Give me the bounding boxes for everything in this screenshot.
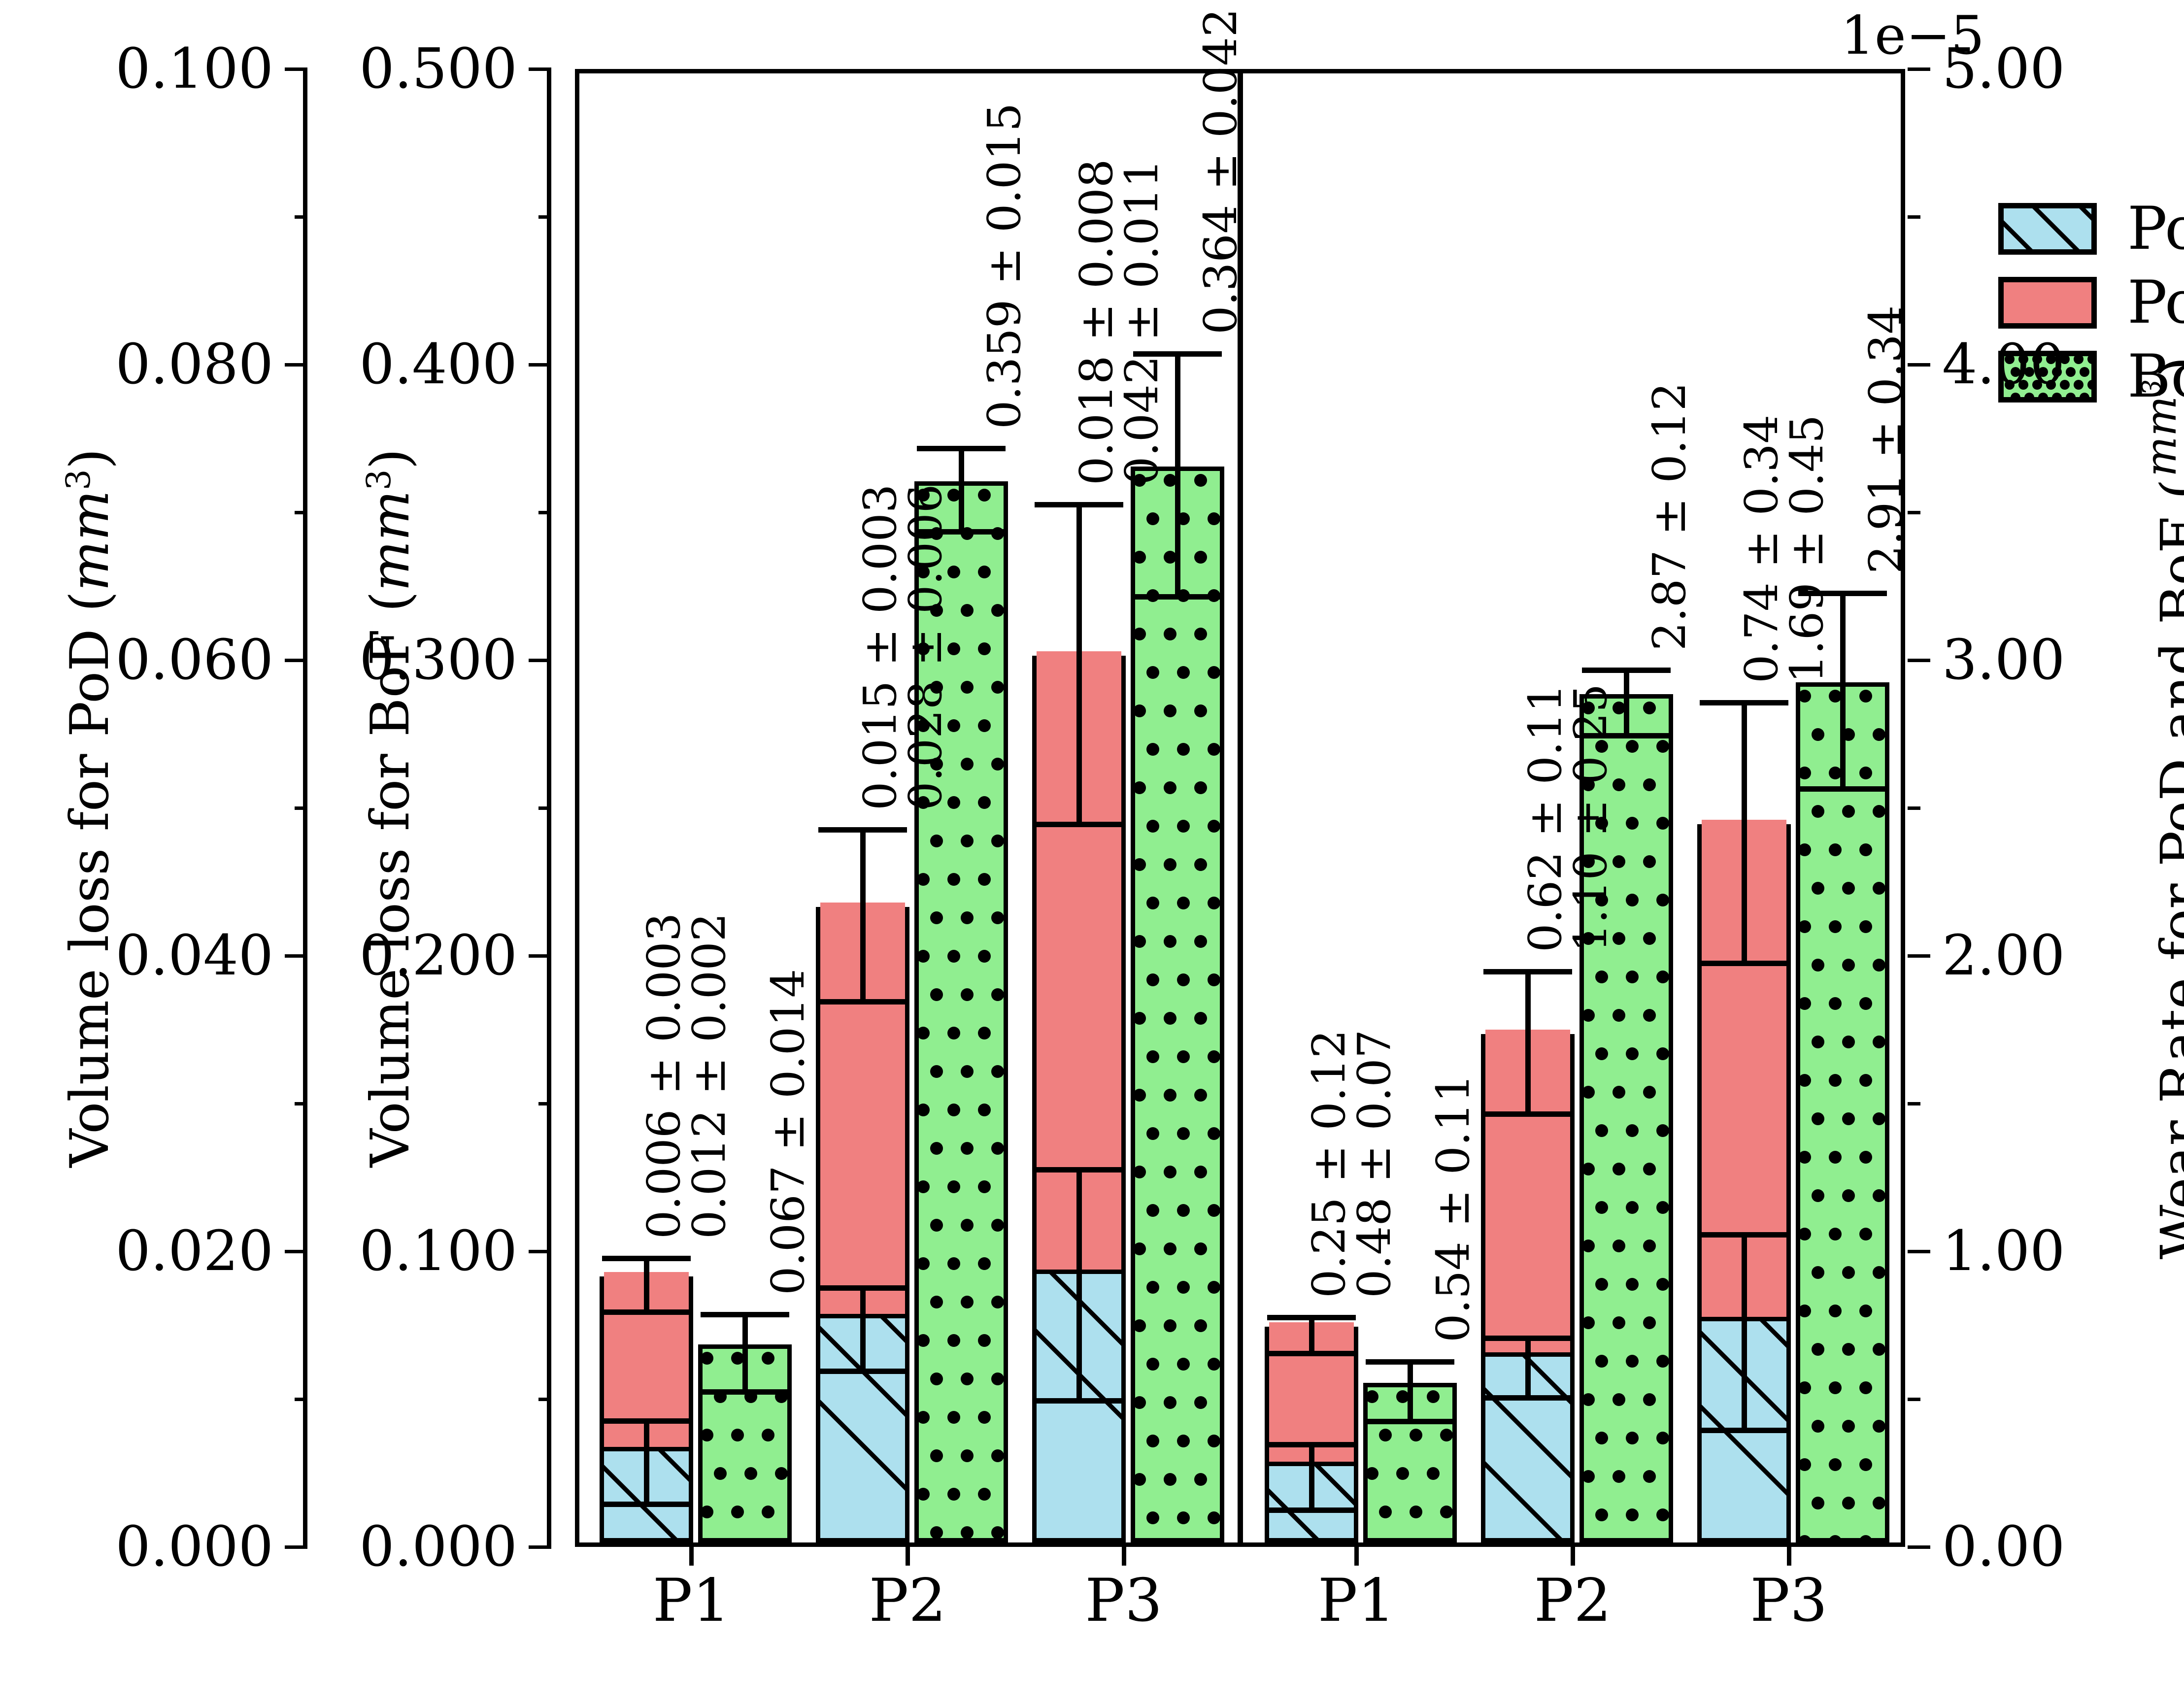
bar-value-label: 0.74 ± 0.341.69 ± 0.45	[1739, 415, 1830, 683]
error-bar-cap	[818, 1369, 907, 1374]
bar-value-label: 0.359 ± 0.015	[982, 103, 1027, 429]
error-bar-stem	[1309, 1442, 1314, 1513]
error-bar-pod-pin	[818, 827, 907, 1005]
axis-tick-label: 0.100	[0, 1224, 517, 1279]
error-bar-cap	[1700, 700, 1788, 705]
axis-tick-minor	[295, 1398, 307, 1401]
value-label-line: 0.25 ± 0.12	[1307, 1030, 1352, 1298]
legend-swatch-pod-pin	[1998, 277, 2097, 329]
error-bar-cap	[602, 1256, 691, 1261]
error-bar-cap	[1035, 502, 1123, 507]
error-bar-pod-disc	[1035, 1167, 1123, 1404]
x-axis-tick	[1787, 1545, 1791, 1566]
x-axis-tick	[1354, 1545, 1359, 1566]
axis-tick-label: 0.200	[0, 928, 517, 983]
error-bar-cap	[818, 827, 907, 833]
error-bar-cap	[1035, 1167, 1123, 1172]
axis-tick-label: 0.300	[0, 633, 517, 688]
right-axis-tick-major	[1908, 67, 1930, 71]
right-axis-tick-major	[1908, 1545, 1930, 1549]
error-bar-bof	[701, 1312, 789, 1395]
error-bar-pod-pin	[602, 1256, 691, 1315]
bar-bof-P3[interactable]	[1796, 682, 1889, 1542]
right-axis-tick-minor	[1908, 1398, 1920, 1401]
axis-tick-label: 0.000	[0, 1519, 517, 1574]
error-bar-cap	[917, 446, 1006, 451]
x-tick-label: P2	[1494, 1567, 1651, 1635]
error-bar-stem	[860, 1285, 866, 1374]
value-label-line: 0.62 ± 0.11	[1523, 684, 1568, 952]
value-label-line: 1.10 ± 0.25	[1568, 684, 1613, 952]
axis-tick-minor	[295, 511, 307, 514]
axis-tick-minor	[295, 806, 307, 810]
axis-tick-label: 0.00	[1942, 1519, 2065, 1574]
error-bar-stem	[644, 1418, 649, 1507]
axis-tick-major	[529, 1545, 551, 1549]
x-axis-tick	[1122, 1545, 1126, 1566]
error-bar-cap	[1267, 1507, 1356, 1513]
bar-value-label: 0.25 ± 0.120.48 ± 0.07	[1307, 1030, 1397, 1298]
error-bar-stem	[1840, 591, 1846, 792]
error-bar-cap	[602, 1502, 691, 1507]
error-bar-cap	[701, 1389, 789, 1395]
error-bar-cap	[1267, 1442, 1356, 1447]
error-bar-cap	[1366, 1419, 1454, 1424]
axis-tick-minor	[538, 215, 551, 219]
right-axis-title: Wear Rate for PoD and BoF (mm3Nm)	[2138, 357, 2184, 1260]
error-bar-stem	[1309, 1315, 1314, 1356]
error-bar-cap	[1366, 1359, 1454, 1365]
x-tick-label: P1	[612, 1567, 770, 1635]
error-bar-stem	[1525, 969, 1531, 1117]
x-tick-label: P3	[1710, 1567, 1868, 1635]
error-bar-stem	[1624, 668, 1629, 738]
error-bar-cap	[1582, 668, 1671, 673]
x-tick-label: P1	[1277, 1567, 1435, 1635]
bar-value-label: 0.62 ± 0.111.10 ± 0.25	[1523, 684, 1613, 952]
error-bar-cap	[1798, 786, 1887, 792]
bar-value-label: 0.54 ± 0.11	[1431, 1074, 1476, 1342]
axis-tick-major	[529, 954, 551, 958]
error-bar-pod-pin	[1267, 1315, 1356, 1356]
value-label-line: 0.018 ± 0.008	[1074, 159, 1119, 485]
right-axis-tick-major	[1908, 659, 1930, 662]
error-bar-cap	[1700, 1428, 1788, 1433]
error-bar-stem	[742, 1312, 748, 1395]
axis-tick-major	[529, 1250, 551, 1253]
error-bar-cap	[818, 1285, 907, 1291]
error-bar-stem	[1175, 351, 1180, 600]
error-bar-cap	[1483, 969, 1572, 974]
axis-tick-label: 5.00	[1942, 41, 2065, 97]
error-bar-cap	[1267, 1351, 1356, 1356]
value-label-line: 0.006 ± 0.003	[641, 913, 687, 1239]
error-bar-pod-pin	[1700, 700, 1788, 966]
value-label-line: 0.012 ± 0.002	[687, 913, 732, 1239]
value-label-line: 1.69 ± 0.45	[1784, 415, 1830, 683]
x-axis-tick	[689, 1545, 694, 1566]
x-axis-tick	[906, 1545, 910, 1566]
x-tick-label: P3	[1045, 1567, 1203, 1635]
error-bar-cap	[1267, 1315, 1356, 1320]
error-bar-pod-disc	[602, 1418, 691, 1507]
axis-tick-label: 3.00	[1942, 633, 2065, 688]
bar-value-label: 2.91 ± 0.34	[1863, 305, 1909, 574]
legend-label: BoF	[2127, 342, 2184, 411]
value-label-line: 0.74 ± 0.34	[1739, 415, 1784, 683]
value-label-line: 0.042 ± 0.011	[1119, 159, 1165, 485]
legend-label: PoD-Pin	[2127, 268, 2184, 337]
right-axis-tick-minor	[1908, 806, 1920, 810]
axis-tick-major	[529, 659, 551, 662]
plot-area: 0.006 ± 0.0030.012 ± 0.0020.067 ± 0.0140…	[575, 69, 1905, 1547]
value-label-line: 0.48 ± 0.07	[1352, 1030, 1397, 1298]
axis-tick-major	[529, 363, 551, 367]
bar-value-label: 0.015 ± 0.0030.028 ± 0.006	[858, 484, 948, 810]
error-bar-cap	[1483, 1395, 1572, 1401]
error-bar-pod-pin	[1035, 502, 1123, 827]
right-axis-tick-major	[1908, 954, 1930, 958]
legend-swatch-pod-disc	[1998, 203, 2097, 255]
right-axis-tick-minor	[1908, 1102, 1920, 1105]
axis-tick-minor	[295, 215, 307, 219]
bar-value-label: 0.006 ± 0.0030.012 ± 0.002	[641, 913, 732, 1239]
axis-tick-label: 2.00	[1942, 928, 2065, 983]
error-bar-bof	[1366, 1359, 1454, 1424]
error-bar-cap	[1700, 1232, 1788, 1238]
error-bar-pod-pin	[1483, 969, 1572, 1117]
error-bar-cap	[1133, 594, 1222, 600]
error-bar-pod-disc	[1267, 1442, 1356, 1513]
bar-value-label: 0.364 ± 0.042	[1198, 8, 1243, 335]
axis-tick-minor	[538, 806, 551, 810]
left-primary-axis-title: Volume loss for PoD (mm3)	[59, 448, 121, 1168]
error-bar-stem	[1742, 1232, 1747, 1433]
error-bar-pod-disc	[1483, 1336, 1572, 1401]
error-bar-stem	[1408, 1359, 1413, 1424]
error-bar-stem	[1076, 502, 1082, 827]
error-bar-cap	[602, 1309, 691, 1315]
error-bar-stem	[959, 446, 964, 535]
left-secondary-axis-title: Volume loss for BoF (mm3)	[360, 449, 421, 1168]
axis-tick-minor	[295, 1102, 307, 1105]
axis-tick-major	[529, 67, 551, 71]
legend-item[interactable]: PoD-Disc	[1998, 192, 2184, 266]
right-axis-tick-minor	[1908, 215, 1920, 219]
legend-label: PoD-Disc	[2127, 195, 2184, 263]
error-bar-stem	[1525, 1336, 1531, 1401]
error-bar-pod-disc	[818, 1285, 907, 1374]
bar-value-label: 0.018 ± 0.0080.042 ± 0.011	[1074, 159, 1165, 485]
error-bar-cap	[1483, 1336, 1572, 1341]
axis-tick-label: 4.00	[1942, 337, 2065, 392]
x-axis-tick	[1571, 1545, 1575, 1566]
axis-tick-label: 0.400	[0, 337, 517, 392]
error-bar-cap	[1035, 822, 1123, 827]
axis-tick-minor	[538, 1398, 551, 1401]
error-bar-cap	[1035, 1398, 1123, 1404]
error-bar-stem	[644, 1256, 649, 1315]
right-axis-tick-major	[1908, 1250, 1930, 1253]
axis-tick-minor	[538, 1102, 551, 1105]
bar-value-label: 0.067 ± 0.014	[766, 969, 811, 1295]
bar-value-label: 2.87 ± 0.12	[1647, 382, 1692, 651]
error-bar-stem	[1742, 700, 1747, 966]
x-tick-label: P2	[829, 1567, 986, 1635]
bar-bof-P3[interactable]	[1131, 467, 1224, 1542]
error-bar-pod-disc	[1700, 1232, 1788, 1433]
value-label-line: 0.015 ± 0.003	[858, 484, 903, 810]
axis-tick-label: 0.500	[0, 41, 517, 97]
error-bar-cap	[1700, 961, 1788, 966]
error-bar-stem	[860, 827, 866, 1005]
error-bar-cap	[701, 1312, 789, 1317]
error-bar-cap	[818, 999, 907, 1005]
value-label-line: 0.028 ± 0.006	[903, 484, 948, 810]
axis-tick-minor	[538, 511, 551, 514]
axis-tick-label: 1.00	[1942, 1224, 2065, 1279]
error-bar-stem	[1076, 1167, 1082, 1404]
error-bar-cap	[602, 1418, 691, 1424]
legend-item[interactable]: PoD-Pin	[1998, 266, 2184, 339]
error-bar-cap	[1483, 1111, 1572, 1117]
